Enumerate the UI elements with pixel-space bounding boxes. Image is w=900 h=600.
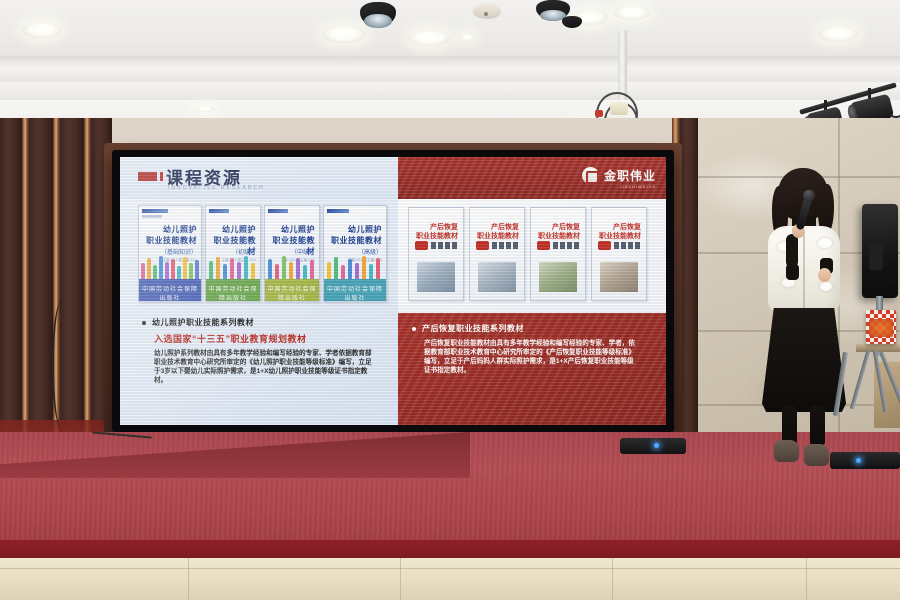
publisher-band: 中国劳动社会保障出版社: [265, 279, 319, 301]
textbook-cover: 产后恢复 职业技能教材: [408, 207, 464, 301]
projector-housing: [610, 102, 628, 115]
tile-grout-line: [806, 558, 807, 600]
presentation-slide[interactable]: 课程资源 INNOVATIVE RESEARCH 金职伟业 JINZHIWEIY…: [120, 157, 666, 425]
raised-hands-illustration: [206, 253, 260, 279]
recessed-downlight: [22, 22, 62, 38]
book-subtitle-rule: [553, 242, 580, 249]
ceiling-recess-band: [0, 56, 900, 82]
certification-seal-icon: [476, 241, 489, 250]
tile-grout-line: [400, 558, 401, 600]
embroidery-motif: [820, 282, 832, 291]
boot-left: [774, 440, 799, 462]
wood-slat: [29, 118, 53, 458]
track-lamp-cable: [886, 98, 900, 118]
wood-slat: [22, 118, 29, 458]
av-device-right[interactable]: [830, 452, 900, 469]
book-subtitle-rule: [614, 242, 641, 249]
textbook-cover: 产后恢复 职业技能教材: [591, 207, 647, 301]
recessed-downlight: [408, 30, 450, 46]
slide-header-right: 金职伟业 JINZHIWEIYE: [398, 157, 666, 199]
textbook-cover: 幼儿照护 职业技能教材 （初级） 主编 XXX 副主编 XXX 中国劳动社会保障…: [205, 205, 261, 302]
wood-slat: [84, 118, 91, 458]
skirt: [762, 308, 846, 412]
left-body-text: 幼儿照护系列教材由具有多年教学经验和编写经验的专家、学者依据教育部职业技术教育中…: [154, 349, 376, 385]
book-cover-photo: [600, 262, 638, 292]
spot-lamp-lens: [364, 14, 391, 28]
left-bullet-heading-row: 幼儿照护职业技能系列教材: [142, 317, 254, 328]
tile-floor: [0, 558, 900, 600]
bullet-dot-icon: [412, 327, 416, 331]
book-title-line2: 职业技能教材: [409, 231, 458, 241]
pa-loudspeaker: [862, 204, 898, 298]
slide-header-left: 课程资源 INNOVATIVE RESEARCH: [120, 157, 398, 199]
left-highlight-text: 入选国家“十三五”职业教育规划教材: [154, 332, 307, 345]
book-cover-photo: [417, 262, 455, 292]
book-cover-photo: [539, 262, 577, 292]
left-bullet-heading: 幼儿照护职业技能系列教材: [152, 317, 254, 328]
cuff-left: [786, 264, 799, 280]
certification-seal-icon: [415, 241, 428, 250]
ceiling-spot-lamp: [360, 2, 396, 27]
title-marker-icon: [138, 172, 157, 181]
brand-subtitle: JINZHIWEIYE: [620, 184, 656, 189]
raised-hands-illustration: [324, 253, 386, 279]
series-badge-icon: [142, 209, 168, 213]
textbook-cover: 产后恢复 职业技能教材: [469, 207, 525, 301]
book-title-line1: 幼儿照护: [265, 224, 315, 235]
smoke-detector-icon: [474, 4, 500, 17]
book-title-line2: 职业技能教材: [324, 235, 382, 246]
recessed-downlight: [322, 26, 366, 43]
wall-cable: [52, 300, 72, 430]
raised-hands-illustration: [265, 253, 319, 279]
sleeve-inner-left: [786, 234, 798, 268]
leg-right: [810, 406, 825, 446]
bullet-dot-icon: [142, 321, 146, 325]
book-title-line1: 幼儿照护: [139, 224, 197, 235]
postpartum-textbook-row: 产后恢复 职业技能教材 产后恢复 职业技能教材 产后恢复 职业技能教材: [408, 207, 647, 301]
publisher-band: 中国劳动社会保障出版社: [324, 279, 386, 301]
power-led-indicator: [856, 458, 861, 463]
publisher-name: 中国劳动社会保障出版社: [139, 284, 201, 302]
book-cover-photo: [478, 262, 516, 292]
childcare-textbook-row: 幼儿照护 职业技能教材 （基础知识） 主编 XXX 副主编 XXX: [138, 205, 387, 302]
publisher-name: 中国劳动社会保障出版社: [265, 284, 319, 302]
textbook-cover: 幼儿照护 职业技能教材 （基础知识） 主编 XXX 副主编 XXX: [138, 205, 202, 302]
recessed-downlight: [460, 34, 474, 41]
tile-grout-line: [188, 558, 189, 600]
recessed-downlight: [614, 6, 650, 20]
projector-red-connector: [595, 110, 603, 117]
series-badge-sub-icon: [142, 215, 162, 218]
publisher-name: 中国劳动社会保障出版社: [206, 284, 260, 302]
book-title-line1: 幼儿照护: [324, 224, 382, 235]
av-device-center[interactable]: [620, 438, 686, 454]
slide-subtitle: INNOVATIVE RESEARCH: [168, 185, 265, 191]
book-subtitle-rule: [492, 242, 519, 249]
brand-logo-icon: [582, 167, 599, 184]
series-badge-icon: [327, 209, 349, 213]
recessed-downlight: [818, 26, 858, 42]
boot-right: [804, 444, 829, 466]
wood-slat: [680, 118, 698, 458]
series-badge-icon: [268, 209, 288, 213]
textbook-cover: 幼儿照护 职业技能教材 （高级） 主编 XXX 副主编 XXX 中国劳动社会保障…: [323, 205, 387, 302]
ceiling-secondary-band: [0, 82, 900, 102]
book-title-line1: 幼儿照护: [206, 224, 256, 235]
textbook-cover: 幼儿照护 职业技能教材 （中级） 主编 XXX 副主编 XXX 中国劳动社会保障…: [264, 205, 320, 302]
slide-header: 课程资源 INNOVATIVE RESEARCH 金职伟业 JINZHIWEIY…: [120, 157, 666, 199]
tile-grout-line: [0, 568, 900, 569]
right-bullet-heading-row: 产后恢复职业技能系列教材: [412, 323, 524, 334]
speaker-tripod-legs: [856, 350, 900, 416]
presenter: [748, 168, 860, 478]
hand-free: [818, 268, 831, 282]
book-title-line2: 职业技能教材: [592, 231, 641, 241]
checkered-decor-box: [866, 310, 896, 344]
certification-seal-icon: [537, 241, 550, 250]
publisher-band: 中国劳动社会保障出版社: [206, 279, 260, 301]
textbook-cover: 产后恢复 职业技能教材: [530, 207, 586, 301]
book-title-line2: 职业技能教材: [531, 231, 580, 241]
publisher-band: 中国劳动社会保障出版社: [139, 279, 201, 301]
series-badge-icon: [209, 209, 229, 213]
book-title-line2: 职业技能教材: [470, 231, 519, 241]
certification-seal-icon: [598, 241, 611, 250]
right-body-text: 产后恢复职业技能教材由具有多年教学经验和编写经验的专家、学者，依据教育部职业技术…: [424, 339, 640, 375]
raised-hands-illustration: [139, 253, 201, 279]
power-led-indicator: [654, 443, 659, 448]
right-bullet-heading: 产后恢复职业技能系列教材: [422, 323, 524, 334]
book-subtitle-rule: [431, 242, 458, 249]
wood-slat: [0, 118, 22, 458]
publisher-name: 中国劳动社会保障出版社: [324, 284, 386, 302]
brand-name: 金职伟业: [604, 167, 656, 184]
embroidery-motif: [818, 238, 832, 248]
recessed-downlight: [196, 106, 214, 112]
book-title-line2: 职业技能教材: [139, 235, 197, 246]
brand-lockup: 金职伟业: [582, 167, 656, 184]
tile-grout-line: [612, 558, 613, 600]
presentation-room-photo: 课程资源 INNOVATIVE RESEARCH 金职伟业 JINZHIWEIY…: [0, 0, 900, 600]
